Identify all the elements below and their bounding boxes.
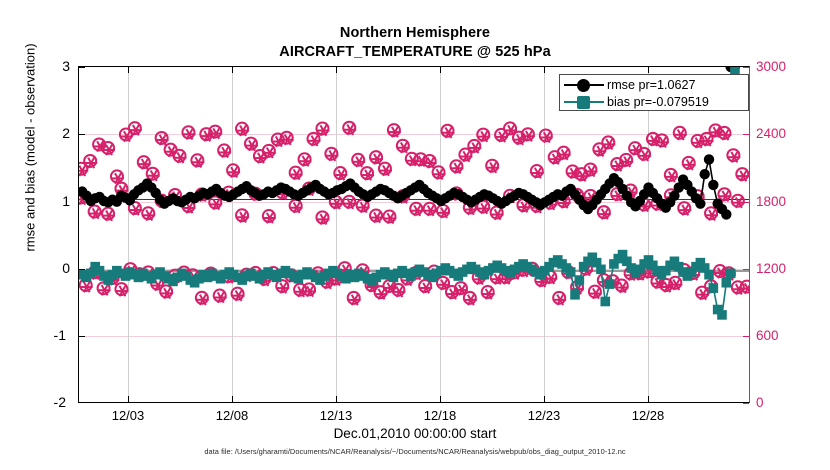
rmse-marker-icon [564, 78, 604, 91]
x-tick-1213: 12/13 [296, 408, 376, 423]
y-tick-right-1200: 1200 [756, 261, 808, 276]
x-axis-label: Dec.01,2010 00:00:00 start [0, 426, 830, 441]
legend: rmse pr=1.0627 bias pr=-0.079519 [559, 74, 749, 111]
y-tick-left-0: 0 [44, 260, 70, 276]
y-axis-left-label: rmse and bias (model - observation) [23, 0, 38, 328]
y-tick-left-m1: -1 [40, 327, 66, 343]
chart-title: Northern Hemisphere AIRCRAFT_TEMPERATURE… [0, 24, 830, 62]
plot-area [78, 66, 750, 403]
x-tick-1228: 12/28 [608, 408, 688, 423]
data-file-caption: data file: /Users/gharamti/Documents/NCA… [0, 447, 830, 456]
x-tick-1223: 12/23 [504, 408, 584, 423]
x-tick-1208: 12/08 [192, 408, 272, 423]
y-tick-right-2400: 2400 [756, 126, 808, 141]
figure-canvas: Northern Hemisphere AIRCRAFT_TEMPERATURE… [0, 0, 830, 470]
title-line-region: Northern Hemisphere [0, 24, 830, 43]
y-tick-left-1: 1 [44, 193, 70, 209]
legend-label-bias: bias pr=-0.079519 [607, 95, 709, 109]
y-tick-left-3: 3 [44, 58, 70, 74]
data-series-layer [79, 67, 749, 402]
bias-marker-icon [564, 95, 604, 108]
y-tick-right-1800: 1800 [756, 194, 808, 209]
x-tick-1203: 12/03 [88, 408, 168, 423]
legend-item-bias[interactable]: bias pr=-0.079519 [564, 93, 709, 110]
y-tick-mark-right-0 [743, 403, 749, 404]
legend-label-rmse: rmse pr=1.0627 [607, 78, 696, 92]
y-tick-right-0: 0 [756, 395, 808, 410]
title-line-variable: AIRCRAFT_TEMPERATURE @ 525 hPa [0, 43, 830, 62]
y-tick-right-600: 600 [756, 328, 808, 343]
x-tick-1218: 12/18 [400, 408, 480, 423]
y-tick-right-3000: 3000 [756, 59, 808, 74]
y-tick-left-2: 2 [44, 125, 70, 141]
legend-item-rmse[interactable]: rmse pr=1.0627 [564, 76, 696, 93]
y-tick-left-m2: -2 [40, 394, 66, 410]
